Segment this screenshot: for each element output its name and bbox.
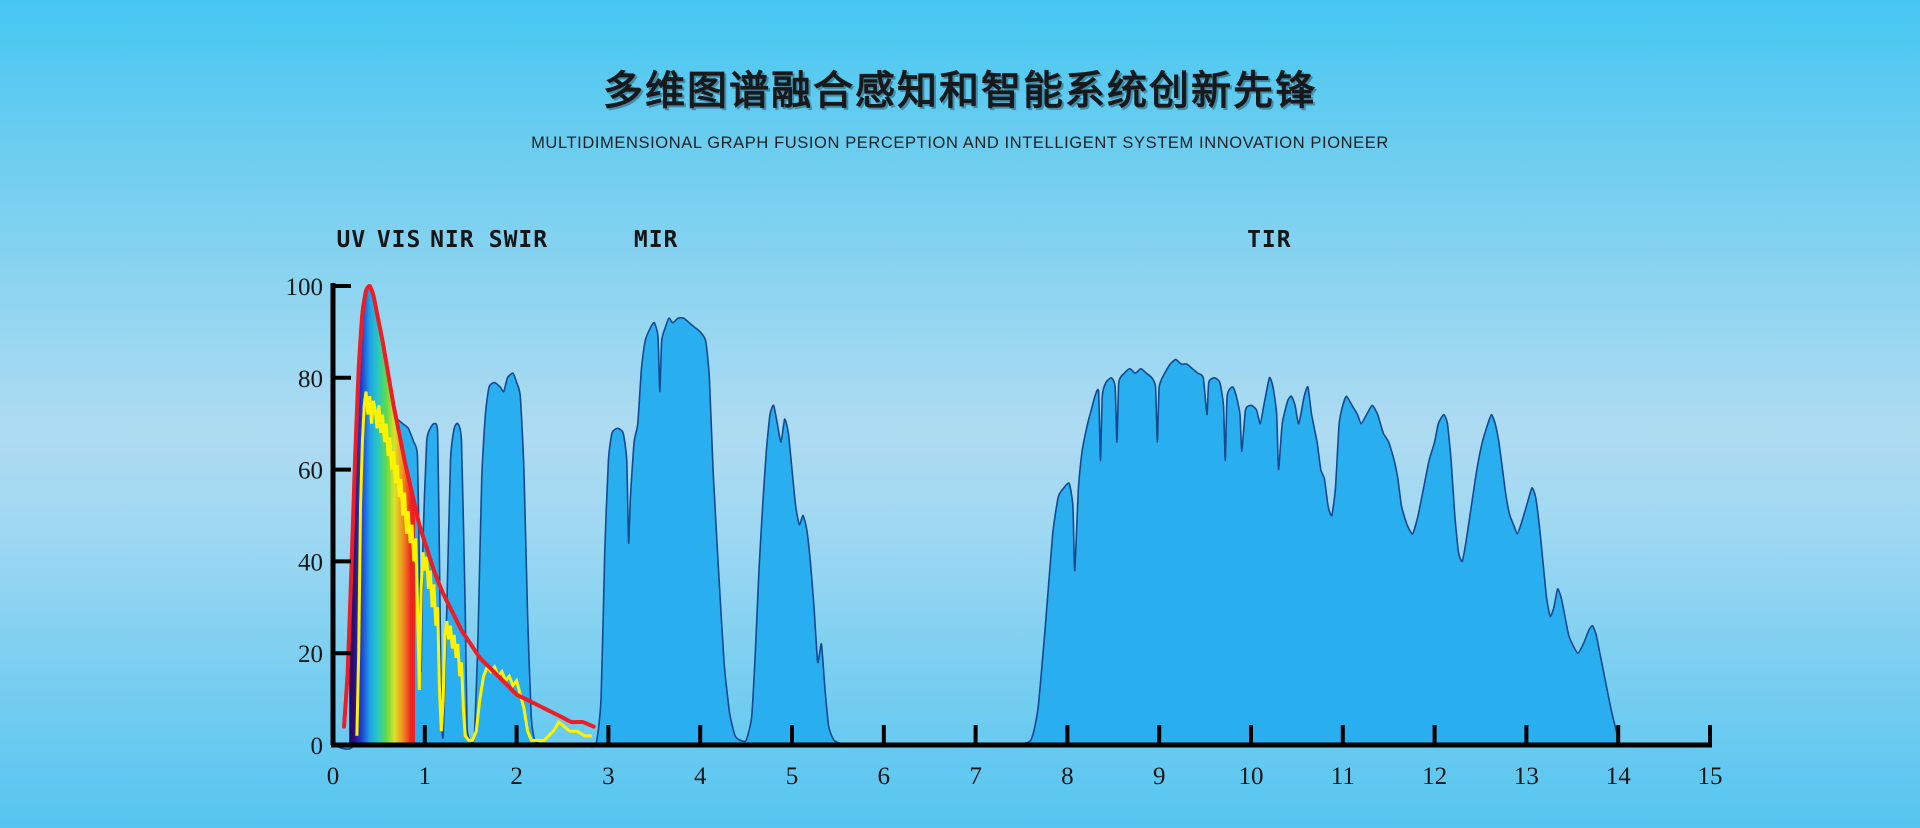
poster-canvas: 多维图谱融合感知和智能系统创新先锋 MULTIDIMENSIONAL GRAPH… bbox=[0, 0, 1920, 828]
x-tick-label: 11 bbox=[1331, 763, 1355, 790]
y-tick-label: 40 bbox=[298, 549, 323, 576]
x-tick-label: 5 bbox=[786, 763, 799, 790]
band-label-tir: TIR bbox=[1247, 227, 1292, 253]
x-tick-label: 4 bbox=[694, 763, 707, 790]
x-tick-label: 9 bbox=[1153, 763, 1166, 790]
x-tick-label: 7 bbox=[969, 763, 982, 790]
y-tick-label: 80 bbox=[298, 366, 323, 393]
x-tick-label: 8 bbox=[1061, 763, 1074, 790]
x-tick-label: 3 bbox=[602, 763, 615, 790]
band-label-mir: MIR bbox=[634, 227, 679, 253]
chart-series-layer bbox=[333, 276, 1710, 749]
x-tick-label: 6 bbox=[878, 763, 891, 790]
x-tick-label: 2 bbox=[510, 763, 523, 790]
band-label-swir: SWIR bbox=[489, 227, 548, 253]
transmission-area bbox=[333, 318, 1710, 749]
x-tick-label: 13 bbox=[1514, 763, 1539, 790]
x-tick-label: 12 bbox=[1422, 763, 1447, 790]
x-tick-label: 10 bbox=[1239, 763, 1264, 790]
y-tick-label: 20 bbox=[298, 641, 323, 668]
spectrum-chart: 0204060801000123456789101112131415UVVISN… bbox=[0, 0, 1920, 828]
band-label-vis: VIS bbox=[377, 227, 422, 253]
y-tick-label: 0 bbox=[311, 733, 324, 760]
y-tick-label: 100 bbox=[286, 274, 324, 301]
band-label-nir: NIR bbox=[430, 227, 475, 253]
x-tick-label: 1 bbox=[419, 763, 432, 790]
x-tick-label: 15 bbox=[1698, 763, 1723, 790]
x-tick-label: 14 bbox=[1606, 763, 1632, 790]
x-tick-label: 0 bbox=[327, 763, 340, 790]
y-tick-label: 60 bbox=[298, 458, 323, 485]
band-label-uv: UV bbox=[337, 227, 367, 253]
spectrum-svg: 0204060801000123456789101112131415UVVISN… bbox=[0, 0, 1920, 828]
